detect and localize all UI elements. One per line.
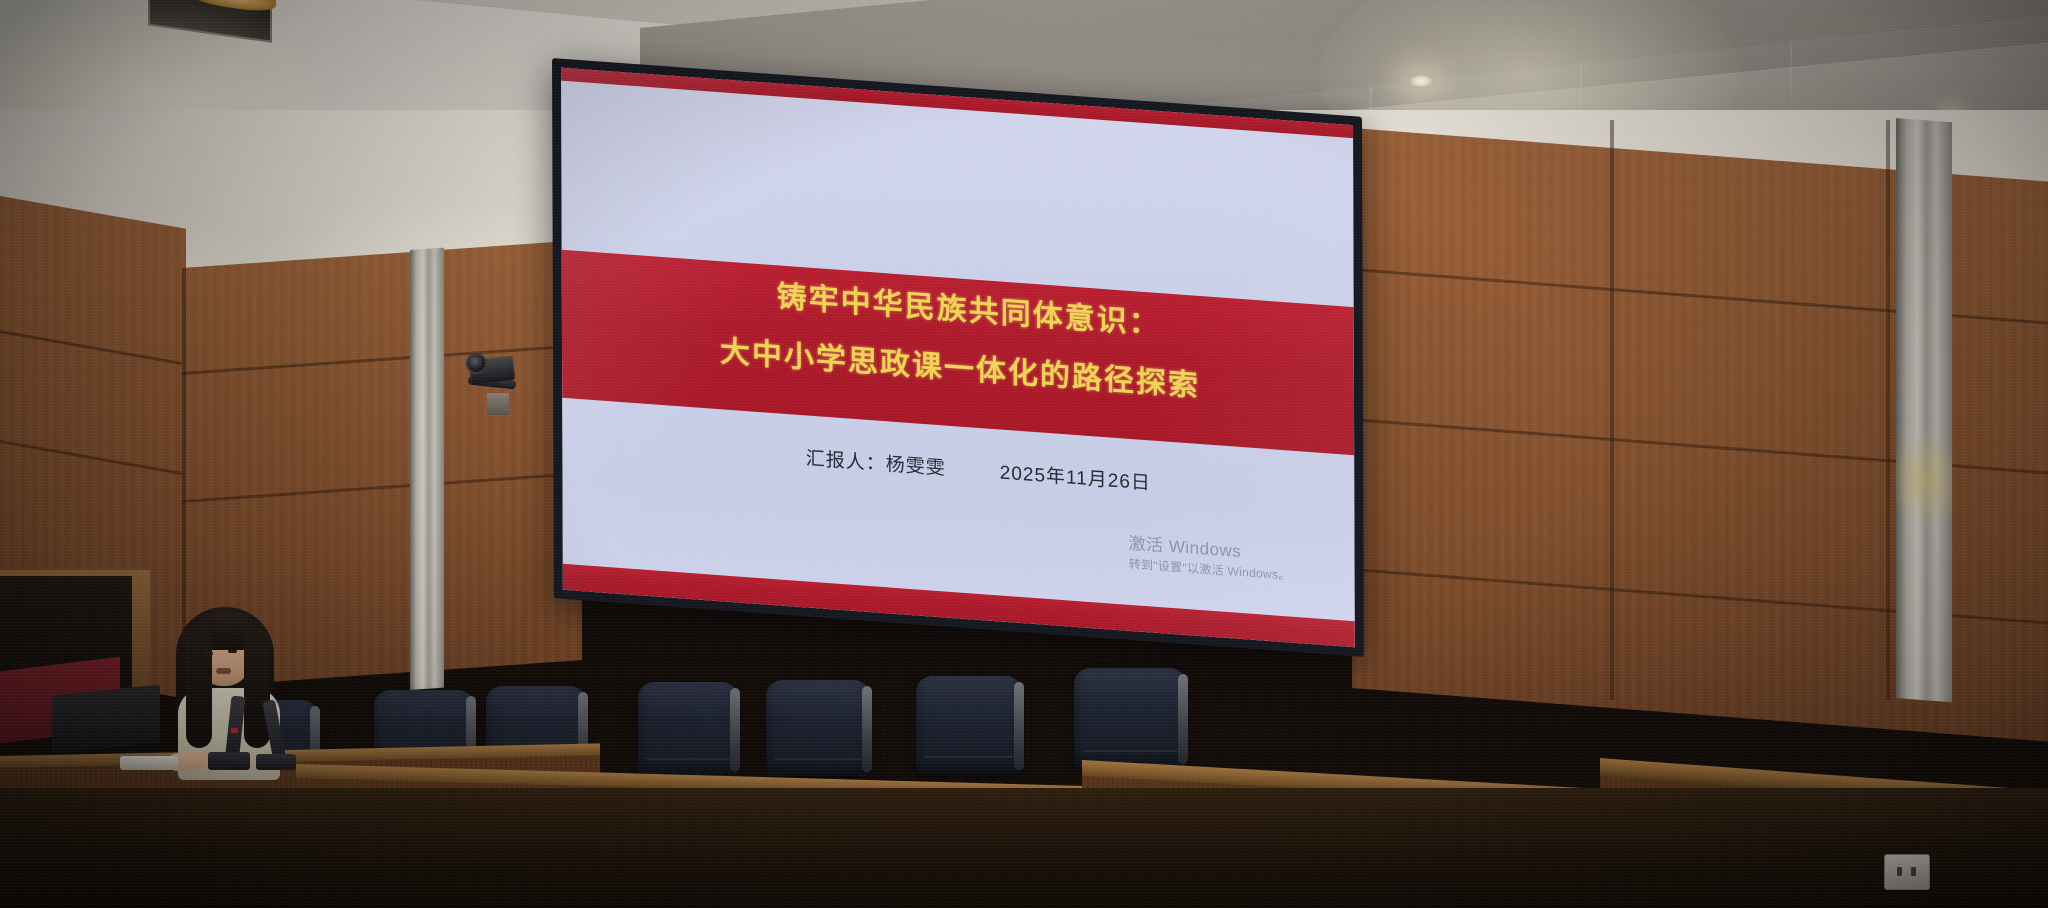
presentation-slide: 铸牢中华民族共同体意识： 大中小学思政课一体化的路径探索 汇报人：杨雯雯 202… (561, 68, 1355, 648)
chair-arm (1178, 674, 1188, 764)
chair (916, 676, 1022, 774)
wall-metal-strip-left (410, 248, 444, 690)
conference-hall-scene: 铸牢中华民族共同体意识： 大中小学思政课一体化的路径探索 汇报人：杨雯雯 202… (0, 0, 2048, 908)
screen-active-area: 铸牢中华民族共同体意识： 大中小学思政课一体化的路径探索 汇报人：杨雯雯 202… (561, 68, 1355, 648)
laptop-icon (52, 684, 160, 753)
camera-lens-icon (466, 353, 487, 374)
chair (638, 682, 738, 776)
presenter-eye-left (204, 652, 213, 655)
presenter-eye-right (228, 650, 237, 653)
presenter-hair-side-left (186, 628, 212, 748)
windows-activation-watermark: 激活 Windows 转到"设置"以激活 Windows。 (1129, 533, 1291, 585)
chair (766, 680, 870, 776)
wall-metal-strip-reflection (1896, 118, 1952, 702)
wood-wall-seam (1886, 120, 1890, 700)
camera-mount-bracket (487, 393, 509, 415)
ceiling-spotlight (1408, 74, 1434, 88)
chair-arm (1014, 682, 1024, 770)
microphone-indicator-led (231, 728, 238, 733)
slide-presenter-label: 汇报人：杨雯雯 (806, 443, 946, 480)
desk-papers (120, 756, 178, 770)
wood-wall-seam (1610, 120, 1614, 700)
chair-arm (730, 688, 740, 772)
led-wall-display[interactable]: 铸牢中华民族共同体意识： 大中小学思政课一体化的路径探索 汇报人：杨雯雯 202… (552, 58, 1364, 657)
chair-arm (862, 686, 872, 772)
foreground-floor (0, 788, 2048, 908)
presenter-mouth (216, 668, 231, 674)
microphone-base-left (208, 752, 250, 770)
microphone-base-right (256, 754, 296, 770)
wall-socket-icon (1884, 854, 1930, 890)
presenter-hair-side-right (244, 628, 270, 748)
slide-date: 2025年11月26日 (1000, 457, 1151, 495)
chair (1074, 668, 1186, 768)
